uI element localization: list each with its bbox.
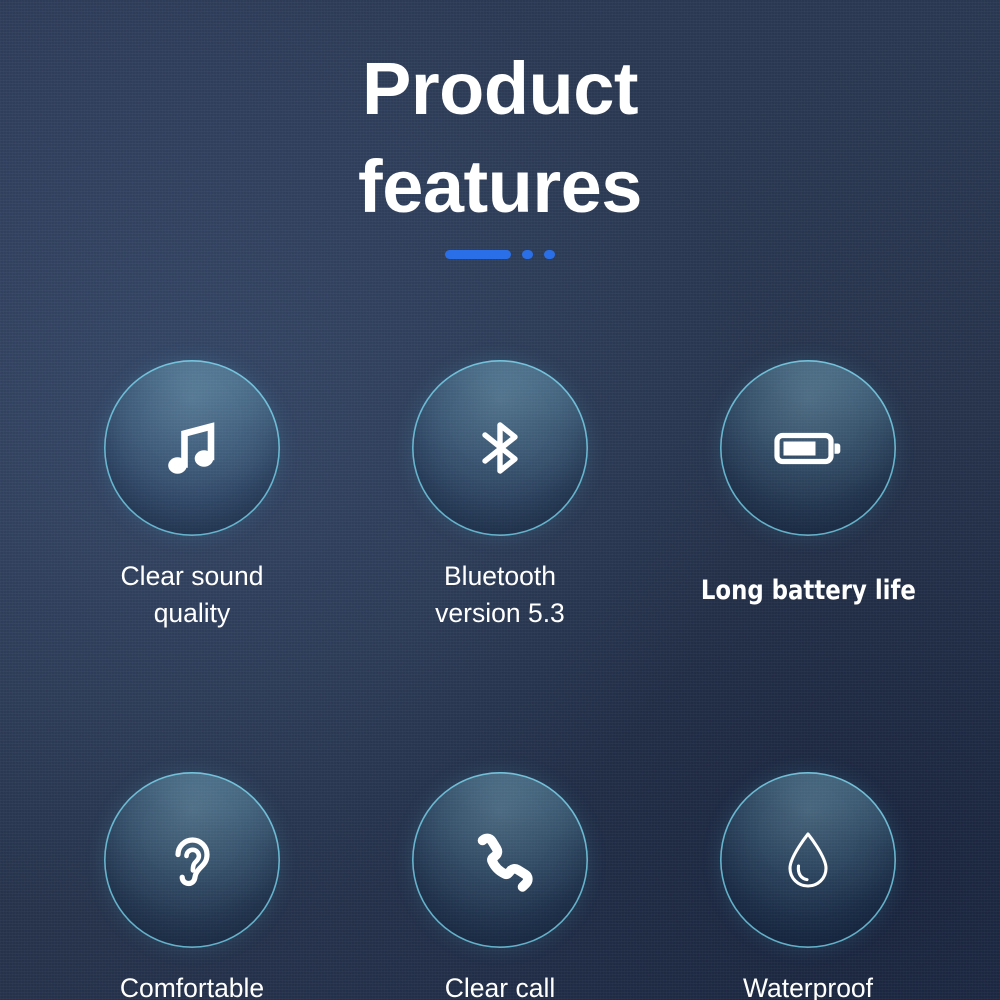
feature-item-clear-sound-quality: Clear sound quality [38, 360, 346, 632]
feature-caption: Clear sound quality [121, 558, 264, 632]
bluetooth-icon [463, 411, 537, 485]
title-line-1: Product [0, 40, 1000, 138]
battery-icon [768, 408, 848, 488]
feature-item-waterproof: Waterproof and sweat proof [654, 772, 962, 1000]
feature-caption: Long battery life [700, 572, 915, 609]
feature-icon-bubble [412, 772, 588, 948]
feature-caption: Waterproof and sweat proof [714, 970, 903, 1000]
feature-item-clear-call: Clear call [346, 772, 654, 1000]
feature-icon-bubble [104, 772, 280, 948]
divider-dot-2 [544, 250, 555, 259]
feature-caption: Bluetooth version 5.3 [435, 558, 565, 632]
product-features-poster: Product features Clear sound quality [0, 0, 1000, 1000]
divider-bar [445, 250, 511, 259]
water-drop-icon [773, 825, 843, 895]
music-note-icon [156, 412, 228, 484]
ear-icon [157, 825, 227, 895]
feature-icon-bubble [412, 360, 588, 536]
feature-caption: Clear call [445, 970, 555, 1000]
feature-item-long-battery-life: Long battery life [654, 360, 962, 632]
title-divider [0, 250, 1000, 259]
divider-dot-1 [522, 250, 533, 259]
phone-handset-icon [465, 825, 535, 895]
feature-item-comfortable-to-wear: Comfortable to wear [38, 772, 346, 1000]
feature-item-bluetooth: Bluetooth version 5.3 [346, 360, 654, 632]
feature-icon-bubble [720, 772, 896, 948]
feature-grid: Clear sound quality Bluetooth version 5.… [38, 360, 962, 1000]
title-line-2: features [0, 138, 1000, 236]
feature-icon-bubble [104, 360, 280, 536]
feature-caption: Comfortable to wear [120, 970, 264, 1000]
page-title: Product features [0, 40, 1000, 236]
feature-icon-bubble [720, 360, 896, 536]
